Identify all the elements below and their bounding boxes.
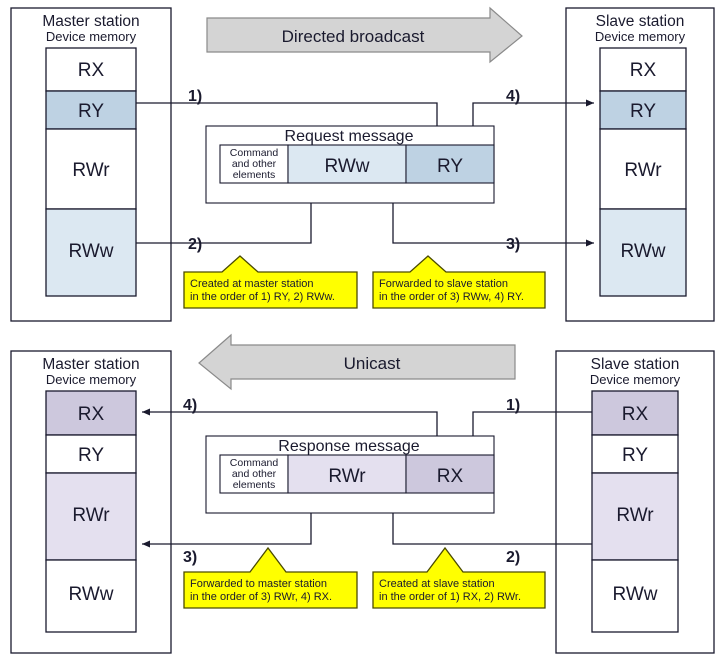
station-title: Slave station: [591, 356, 680, 373]
message-cell-rx-label: RX: [437, 466, 464, 487]
response-message-box: Response message Command and other eleme…: [206, 436, 494, 513]
callout-created-master: Created at master station in the order o…: [184, 256, 357, 308]
memory-block-rx-label: RX: [630, 60, 657, 81]
message-title: Request message: [285, 128, 414, 145]
banner-label: Directed broadcast: [282, 27, 425, 46]
master-station-frame-top: Master station Device memory RX RY RWr R…: [11, 8, 171, 321]
memory-block-rww-label: RWw: [612, 584, 657, 605]
memory-block-rww-label: RWw: [68, 584, 113, 605]
message-cell-rww-label: RWw: [324, 156, 369, 177]
memory-block-rwr-label: RWr: [624, 160, 662, 181]
diagram-directed-broadcast: Master station Device memory RX RY RWr R…: [11, 8, 714, 321]
message-title: Response message: [278, 438, 420, 455]
step-label-1: 1): [506, 397, 520, 414]
step-label-3: 3): [506, 236, 520, 253]
banner-label: Unicast: [344, 354, 401, 373]
step-label-2: 2): [188, 236, 202, 253]
step-label-4: 4): [506, 88, 520, 105]
banner-unicast: Unicast: [199, 335, 515, 389]
callout-line-2: in the order of 1) RY, 2) RWw.: [190, 291, 335, 303]
station-subtitle: Device memory: [46, 29, 137, 44]
diagram-unicast: Master station Device memory RX RY RWr R…: [11, 335, 714, 653]
memory-block-rx-label: RX: [78, 404, 105, 425]
memory-block-ry-label: RY: [630, 101, 656, 122]
memory-block-rww-label: RWw: [620, 241, 665, 262]
callout-line-1: Forwarded to slave station: [379, 278, 508, 290]
memory-block-rx-label: RX: [78, 60, 105, 81]
step-label-4: 4): [183, 397, 197, 414]
callout-forwarded-slave: Forwarded to slave station in the order …: [373, 256, 545, 308]
step-label-2: 2): [506, 549, 520, 566]
memory-block-rx-label: RX: [622, 404, 649, 425]
memory-block-ry-label: RY: [622, 445, 648, 466]
slave-station-frame-bottom: Slave station Device memory RX RY RWr RW…: [556, 351, 714, 653]
request-message-box: Request message Command and other elemen…: [206, 126, 494, 203]
callout-line-1: Created at slave station: [379, 578, 495, 590]
memory-block-ry-label: RY: [78, 101, 104, 122]
callout-line-2: in the order of 3) RWw, 4) RY.: [379, 291, 524, 303]
callout-line-1: Forwarded to master station: [190, 578, 327, 590]
memory-block-rwr-label: RWr: [616, 505, 654, 526]
diagram-canvas: Master station Device memory RX RY RWr R…: [0, 0, 723, 663]
diagram-svg: Master station Device memory RX RY RWr R…: [0, 0, 723, 663]
message-cell-rwr-label: RWr: [328, 466, 366, 487]
banner-directed-broadcast: Directed broadcast: [207, 8, 522, 62]
command-cell-line-3: elements: [233, 479, 276, 491]
callout-line-2: in the order of 3) RWr, 4) RX.: [190, 591, 332, 603]
memory-block-rwr-label: RWr: [72, 160, 110, 181]
memory-block-rwr-label: RWr: [72, 505, 110, 526]
station-subtitle: Device memory: [46, 372, 137, 387]
station-subtitle: Device memory: [590, 372, 681, 387]
memory-block-rww-label: RWw: [68, 241, 113, 262]
station-title: Master station: [42, 356, 139, 373]
message-cell-ry-label: RY: [437, 156, 463, 177]
station-title: Slave station: [596, 13, 685, 30]
callout-line-2: in the order of 1) RX, 2) RWr.: [379, 591, 521, 603]
station-title: Master station: [42, 13, 139, 30]
step-label-3: 3): [183, 549, 197, 566]
memory-block-ry-label: RY: [78, 445, 104, 466]
command-cell-line-3: elements: [233, 169, 276, 181]
callout-forwarded-master: Forwarded to master station in the order…: [184, 548, 357, 608]
station-subtitle: Device memory: [595, 29, 686, 44]
step-label-1: 1): [188, 88, 202, 105]
slave-station-frame-top: Slave station Device memory RX RY RWr RW…: [566, 8, 714, 321]
callout-line-1: Created at master station: [190, 278, 314, 290]
master-station-frame-bottom: Master station Device memory RX RY RWr R…: [11, 351, 171, 653]
